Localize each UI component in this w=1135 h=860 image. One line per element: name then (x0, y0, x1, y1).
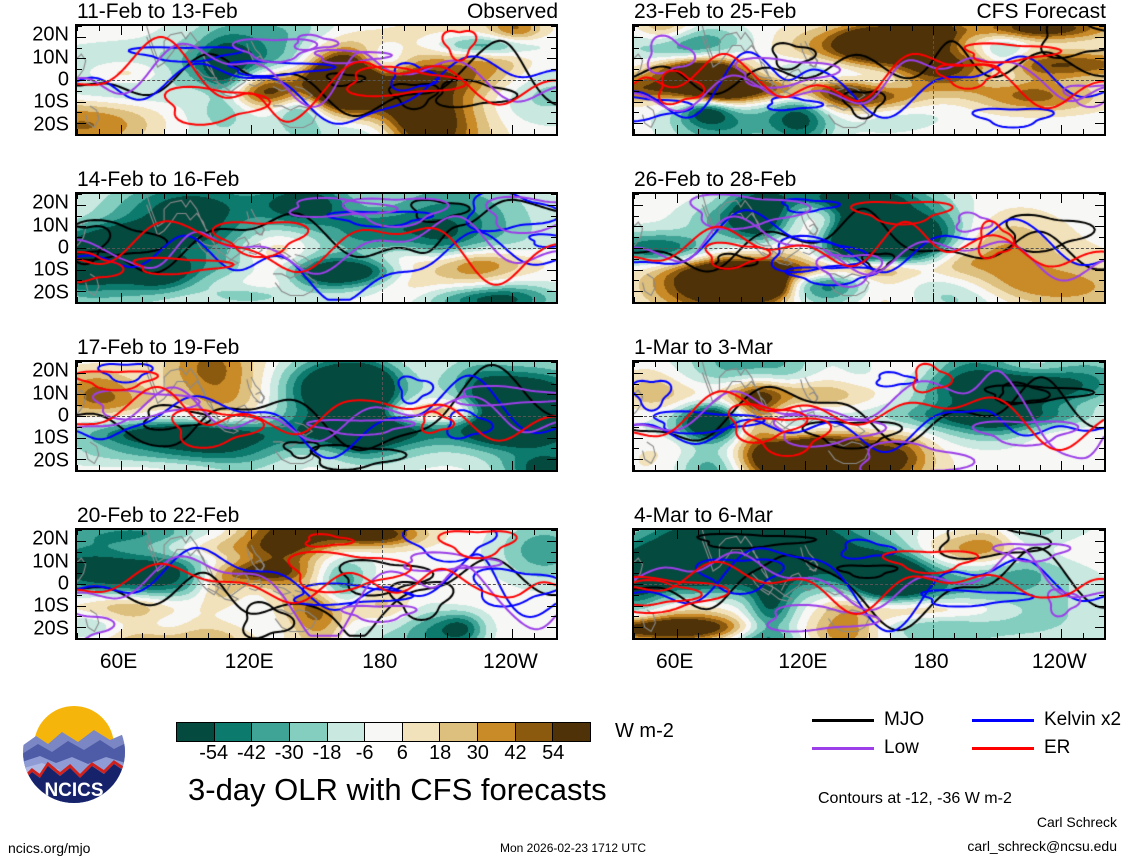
colorbar-swatch-0 (177, 723, 215, 741)
x-axis-labels-right: 60E120E180120W (632, 650, 1102, 680)
y-tick (77, 237, 82, 238)
x-tick (997, 465, 998, 470)
y-axis-label: 10N (32, 46, 69, 69)
x-tick (1019, 465, 1020, 470)
plot-panel-p3: 17-Feb to 19-Feb20N10N010S20S (75, 360, 558, 472)
x-tick (997, 530, 998, 535)
y-tick (77, 226, 86, 227)
x-tick (1061, 194, 1062, 203)
x-tick (890, 465, 891, 470)
x-tick (719, 129, 720, 134)
y-tick (1095, 205, 1104, 206)
y-tick (77, 91, 82, 92)
x-tick (186, 297, 187, 302)
x-tick (954, 465, 955, 470)
y-tick (1099, 384, 1104, 385)
x-tick (469, 633, 470, 638)
x-tick (186, 633, 187, 638)
x-tick (404, 362, 405, 367)
y-tick (1095, 37, 1104, 38)
x-tick (512, 461, 513, 470)
panel-title-p6: 26-Feb to 28-Feb (634, 169, 796, 190)
y-tick (77, 259, 82, 260)
x-tick (762, 26, 763, 31)
x-tick (338, 530, 339, 535)
dateline-line-p7 (933, 362, 934, 470)
x-tick (534, 633, 535, 638)
y-tick (77, 416, 86, 417)
x-tick (741, 26, 742, 31)
x-tick (273, 633, 274, 638)
x-tick (976, 297, 977, 302)
x-tick (382, 125, 383, 134)
colorbar-tick-7: 30 (467, 742, 489, 765)
x-tick (317, 633, 318, 638)
y-tick (551, 448, 556, 449)
x-tick (556, 129, 557, 134)
panel-title-p1: 11-Feb to 13-Feb (77, 1, 238, 22)
y-tick (77, 362, 82, 363)
y-axis-label: 20N (32, 360, 69, 383)
y-tick (551, 134, 556, 135)
x-tick (1040, 297, 1041, 302)
x-tick (805, 293, 806, 302)
x-tick (869, 633, 870, 638)
x-tick (295, 530, 296, 535)
x-tick (1061, 293, 1062, 302)
dateline-line-p8 (933, 530, 934, 638)
x-tick (869, 362, 870, 367)
x-tick (933, 530, 934, 539)
x-tick (976, 129, 977, 134)
x-tick (655, 530, 656, 535)
y-axis-label: 20S (33, 617, 69, 640)
y-tick (634, 627, 643, 628)
x-tick (534, 530, 535, 535)
y-tick (551, 470, 556, 471)
x-tick (469, 26, 470, 31)
x-tick (556, 297, 557, 302)
x-tick (848, 362, 849, 367)
equator-line-p7 (634, 416, 1104, 417)
x-tick (869, 530, 870, 535)
x-tick (338, 633, 339, 638)
equator-line-p8 (634, 584, 1104, 585)
colorbar-units-label: W m-2 (615, 720, 674, 743)
x-tick (404, 194, 405, 199)
x-tick (762, 297, 763, 302)
x-tick (382, 461, 383, 470)
x-tick (273, 194, 274, 199)
x-tick (251, 194, 252, 203)
y-axis-label: 10S (33, 595, 69, 618)
x-axis-labels-left: 60E120E180120W (75, 650, 554, 680)
y-tick (634, 606, 643, 607)
y-tick (77, 530, 82, 531)
y-tick (547, 123, 556, 124)
x-tick (741, 633, 742, 638)
y-axis-label: 20N (32, 192, 69, 215)
x-tick (826, 465, 827, 470)
y-tick (1099, 470, 1104, 471)
y-tick (77, 302, 82, 303)
y-tick (634, 595, 639, 596)
x-tick (1083, 26, 1084, 31)
y-tick (634, 69, 639, 70)
x-tick (869, 26, 870, 31)
x-tick (556, 633, 557, 638)
x-tick (1061, 530, 1062, 539)
y-tick (551, 237, 556, 238)
y-tick (1095, 584, 1104, 585)
x-tick (99, 26, 100, 31)
x-tick (869, 129, 870, 134)
legend-row-1: MJO Kelvin x2 (812, 706, 1122, 734)
y-tick (551, 573, 556, 574)
equator-line-p3 (77, 416, 556, 417)
x-tick (229, 194, 230, 199)
legend-label-mjo: MJO (884, 709, 924, 731)
x-tick (933, 629, 934, 638)
x-tick (890, 26, 891, 31)
y-tick (551, 552, 556, 553)
x-tick (186, 362, 187, 367)
y-tick (77, 448, 82, 449)
x-axis-label: 120W (1032, 650, 1087, 674)
x-tick (491, 194, 492, 199)
x-tick (142, 362, 143, 367)
y-tick (634, 134, 639, 135)
y-tick (1099, 280, 1104, 281)
x-tick (534, 194, 535, 199)
x-tick (360, 362, 361, 367)
x-tick (933, 125, 934, 134)
y-tick (551, 595, 556, 596)
ncics-logo[interactable]: NCICS (22, 700, 126, 804)
y-tick (77, 134, 82, 135)
x-tick (469, 194, 470, 199)
x-tick (912, 194, 913, 199)
x-tick (912, 530, 913, 535)
colorbar-tick-3: -18 (312, 742, 341, 765)
x-tick (425, 465, 426, 470)
x-tick (534, 465, 535, 470)
y-tick (1099, 552, 1104, 553)
y-tick (634, 302, 639, 303)
x-tick (273, 362, 274, 367)
x-tick (848, 465, 849, 470)
x-tick (1083, 194, 1084, 199)
y-tick (634, 427, 639, 428)
y-tick (547, 226, 556, 227)
x-tick (1061, 26, 1062, 35)
plot-area-p8 (632, 528, 1106, 640)
x-tick (208, 465, 209, 470)
x-tick (719, 297, 720, 302)
y-tick (77, 248, 86, 249)
x-tick (273, 465, 274, 470)
y-tick (634, 459, 643, 460)
x-tick (447, 633, 448, 638)
legend-swatch-er (972, 747, 1034, 750)
colorbar-swatch-1 (215, 723, 253, 741)
x-tick (805, 194, 806, 203)
x-tick (99, 362, 100, 367)
y-tick (1095, 58, 1104, 59)
y-tick (77, 606, 86, 607)
x-tick (762, 194, 763, 199)
y-tick (634, 26, 639, 27)
y-tick (1095, 394, 1104, 395)
x-tick (805, 629, 806, 638)
x-tick (164, 362, 165, 367)
y-tick (1095, 562, 1104, 563)
colorbar-swatch-5 (365, 723, 403, 741)
x-tick (1061, 125, 1062, 134)
x-tick (469, 297, 470, 302)
x-tick (447, 194, 448, 199)
x-tick (142, 194, 143, 199)
y-tick (547, 373, 556, 374)
x-tick (954, 194, 955, 199)
x-tick (229, 633, 230, 638)
y-tick (634, 112, 639, 113)
colorbar-tick-4: -6 (356, 742, 374, 765)
x-tick (784, 297, 785, 302)
x-tick (655, 26, 656, 31)
y-tick (634, 362, 639, 363)
x-tick (655, 129, 656, 134)
x-tick (912, 362, 913, 367)
x-tick (655, 362, 656, 367)
y-tick (77, 573, 82, 574)
x-tick (99, 194, 100, 199)
x-tick (491, 465, 492, 470)
x-tick (741, 297, 742, 302)
x-tick (1019, 633, 1020, 638)
y-tick (77, 595, 82, 596)
y-axis-label: 10N (32, 550, 69, 573)
x-tick (698, 129, 699, 134)
x-tick (164, 129, 165, 134)
y-tick (634, 562, 643, 563)
x-tick (677, 530, 678, 539)
x-tick (826, 362, 827, 367)
y-tick (634, 394, 643, 395)
x-tick (512, 125, 513, 134)
x-tick (425, 530, 426, 535)
contour-legend: MJO Kelvin x2 Low ER (812, 706, 1122, 762)
x-tick (317, 530, 318, 535)
x-tick (954, 26, 955, 31)
x-tick (121, 629, 122, 638)
x-tick (1040, 465, 1041, 470)
x-tick (208, 362, 209, 367)
colorbar-swatch-2 (252, 723, 290, 741)
x-tick (273, 297, 274, 302)
x-tick (655, 297, 656, 302)
legend-item-er: ER (972, 737, 1070, 759)
colorbar-tick-6: 18 (429, 742, 451, 765)
x-tick (912, 633, 913, 638)
x-axis-label: 60E (656, 650, 693, 674)
plot-panel-p8: 4-Mar to 6-Mar (632, 528, 1106, 640)
x-tick (848, 530, 849, 535)
y-tick (1099, 216, 1104, 217)
x-tick (784, 633, 785, 638)
x-tick (273, 26, 274, 31)
x-tick (382, 26, 383, 35)
x-tick (719, 26, 720, 31)
y-tick (551, 302, 556, 303)
x-tick (295, 297, 296, 302)
x-tick (805, 125, 806, 134)
y-tick (77, 291, 86, 292)
y-tick (551, 427, 556, 428)
x-tick (164, 465, 165, 470)
x-tick (784, 530, 785, 535)
y-tick (77, 394, 86, 395)
x-tick (295, 633, 296, 638)
x-tick (741, 129, 742, 134)
y-tick (551, 405, 556, 406)
y-tick (547, 58, 556, 59)
equator-line-p1 (77, 80, 556, 81)
x-tick (229, 362, 230, 367)
x-tick (976, 633, 977, 638)
plot-panel-p7: 1-Mar to 3-Mar (632, 360, 1106, 472)
y-tick (634, 573, 639, 574)
x-tick (273, 129, 274, 134)
colorbar-swatch-4 (328, 723, 366, 741)
y-tick (77, 638, 82, 639)
y-tick (1095, 248, 1104, 249)
x-tick (382, 194, 383, 203)
x-tick (382, 293, 383, 302)
x-tick (447, 530, 448, 535)
x-tick (741, 465, 742, 470)
y-axis-label: 0 (58, 405, 69, 428)
x-tick (469, 362, 470, 367)
y-tick (1099, 638, 1104, 639)
y-tick (634, 91, 639, 92)
y-axis-label: 20N (32, 528, 69, 551)
y-tick (77, 123, 86, 124)
colorbar-tick-labels: -54-42-30-18-6618304254 (176, 742, 591, 768)
y-tick (634, 384, 639, 385)
x-tick (164, 297, 165, 302)
x-tick (317, 194, 318, 199)
x-tick (382, 530, 383, 539)
site-url-label[interactable]: ncics.org/mjo (8, 840, 90, 856)
x-tick (317, 465, 318, 470)
x-axis-label: 120W (483, 650, 538, 674)
x-tick (719, 362, 720, 367)
colorbar-swatch-7 (440, 723, 478, 741)
y-tick (1099, 237, 1104, 238)
y-tick (551, 48, 556, 49)
dateline-line-p2 (382, 194, 383, 302)
x-tick (360, 297, 361, 302)
x-tick (469, 530, 470, 535)
figure-root: 11-Feb to 13-FebObserved20N10N010S20S14-… (0, 0, 1135, 860)
y-tick (547, 37, 556, 38)
x-tick (186, 530, 187, 535)
y-tick (77, 438, 86, 439)
y-tick (1095, 459, 1104, 460)
y-tick (634, 541, 643, 542)
x-tick (1083, 633, 1084, 638)
y-tick (77, 373, 86, 374)
x-tick (762, 465, 763, 470)
y-tick (1095, 606, 1104, 607)
x-tick (698, 194, 699, 199)
panel-title-p8: 4-Mar to 6-Mar (634, 505, 773, 526)
x-tick (954, 297, 955, 302)
plot-area-p5 (632, 24, 1106, 136)
colorbar-tick-8: 42 (504, 742, 526, 765)
y-tick (1099, 616, 1104, 617)
panel-title-p4: 20-Feb to 22-Feb (77, 505, 239, 526)
x-tick (338, 26, 339, 31)
equator-line-p6 (634, 248, 1104, 249)
y-tick (547, 80, 556, 81)
y-tick (634, 470, 639, 471)
x-tick (719, 530, 720, 535)
x-axis-label: 180 (914, 650, 949, 674)
legend-item-low: Low (812, 737, 972, 759)
x-tick (121, 362, 122, 371)
y-tick (551, 91, 556, 92)
y-tick (77, 26, 82, 27)
x-tick (121, 125, 122, 134)
x-tick (997, 129, 998, 134)
x-tick (1104, 297, 1105, 302)
y-tick (1099, 302, 1104, 303)
x-tick (848, 194, 849, 199)
x-tick (469, 129, 470, 134)
x-tick (805, 26, 806, 35)
x-tick (208, 129, 209, 134)
x-tick (404, 26, 405, 31)
x-tick (295, 465, 296, 470)
x-tick (912, 26, 913, 31)
x-tick (491, 633, 492, 638)
x-tick (338, 297, 339, 302)
colorbar: -54-42-30-18-6618304254 W m-2 (176, 722, 591, 768)
plot-area-p7 (632, 360, 1106, 472)
y-tick (634, 280, 639, 281)
panel-title-p3: 17-Feb to 19-Feb (77, 337, 239, 358)
x-tick (1040, 530, 1041, 535)
x-tick (360, 633, 361, 638)
x-tick (360, 26, 361, 31)
x-tick (512, 362, 513, 371)
x-tick (655, 633, 656, 638)
y-tick (634, 405, 639, 406)
x-tick (976, 465, 977, 470)
x-tick (677, 26, 678, 35)
x-tick (826, 194, 827, 199)
x-tick (826, 129, 827, 134)
x-tick (229, 530, 230, 535)
x-tick (677, 461, 678, 470)
x-tick (1019, 297, 1020, 302)
x-tick (698, 465, 699, 470)
author-credit: Carl Schreck (1037, 814, 1117, 830)
y-tick (634, 248, 643, 249)
x-tick (719, 633, 720, 638)
